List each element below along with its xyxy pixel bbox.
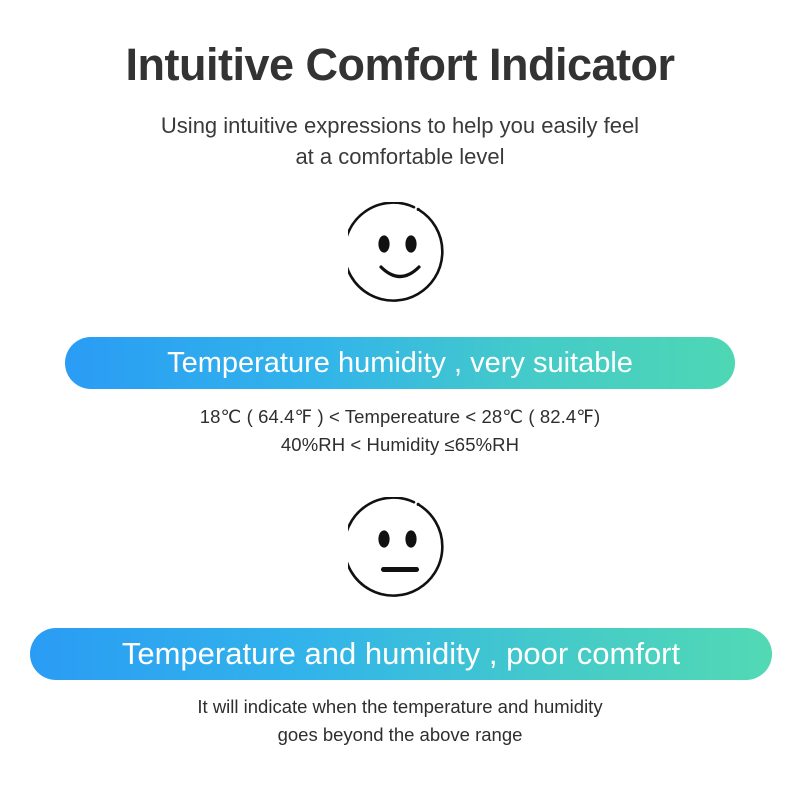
page-subtitle: Using intuitive expressions to help you …: [0, 110, 800, 174]
poor-comfort-caption: It will indicate when the temperature an…: [0, 693, 800, 749]
comfort-section-poor-face: [0, 497, 800, 601]
comfort-range-spec: 18℃ ( 64.4℉ ) < Tempereature < 28℃ ( 82.…: [0, 403, 800, 459]
page-title: Intuitive Comfort Indicator: [0, 40, 800, 90]
poor-comfort-caption-line-2: goes beyond the above range: [0, 721, 800, 749]
banner-poor-comfort-label: Temperature and humidity , poor comfort: [122, 636, 680, 672]
page-subtitle-line-1: Using intuitive expressions to help you …: [0, 110, 800, 142]
comfort-range-temperature: 18℃ ( 64.4℉ ) < Tempereature < 28℃ ( 82.…: [0, 403, 800, 431]
smiling-face-icon: [348, 202, 452, 306]
comfort-range-humidity: 40%RH < Humidity ≤65%RH: [0, 431, 800, 459]
poor-comfort-caption-line-1: It will indicate when the temperature an…: [0, 693, 800, 721]
banner-very-suitable: Temperature humidity , very suitable: [65, 337, 735, 389]
header: Intuitive Comfort Indicator Using intuit…: [0, 0, 800, 173]
banner-very-suitable-label: Temperature humidity , very suitable: [167, 347, 633, 380]
infographic-page: Intuitive Comfort Indicator Using intuit…: [0, 0, 800, 800]
banner-poor-comfort: Temperature and humidity , poor comfort: [30, 628, 772, 680]
page-subtitle-line-2: at a comfortable level: [0, 141, 800, 173]
neutral-face-icon: [348, 497, 452, 601]
comfort-section-good-face: [0, 202, 800, 306]
